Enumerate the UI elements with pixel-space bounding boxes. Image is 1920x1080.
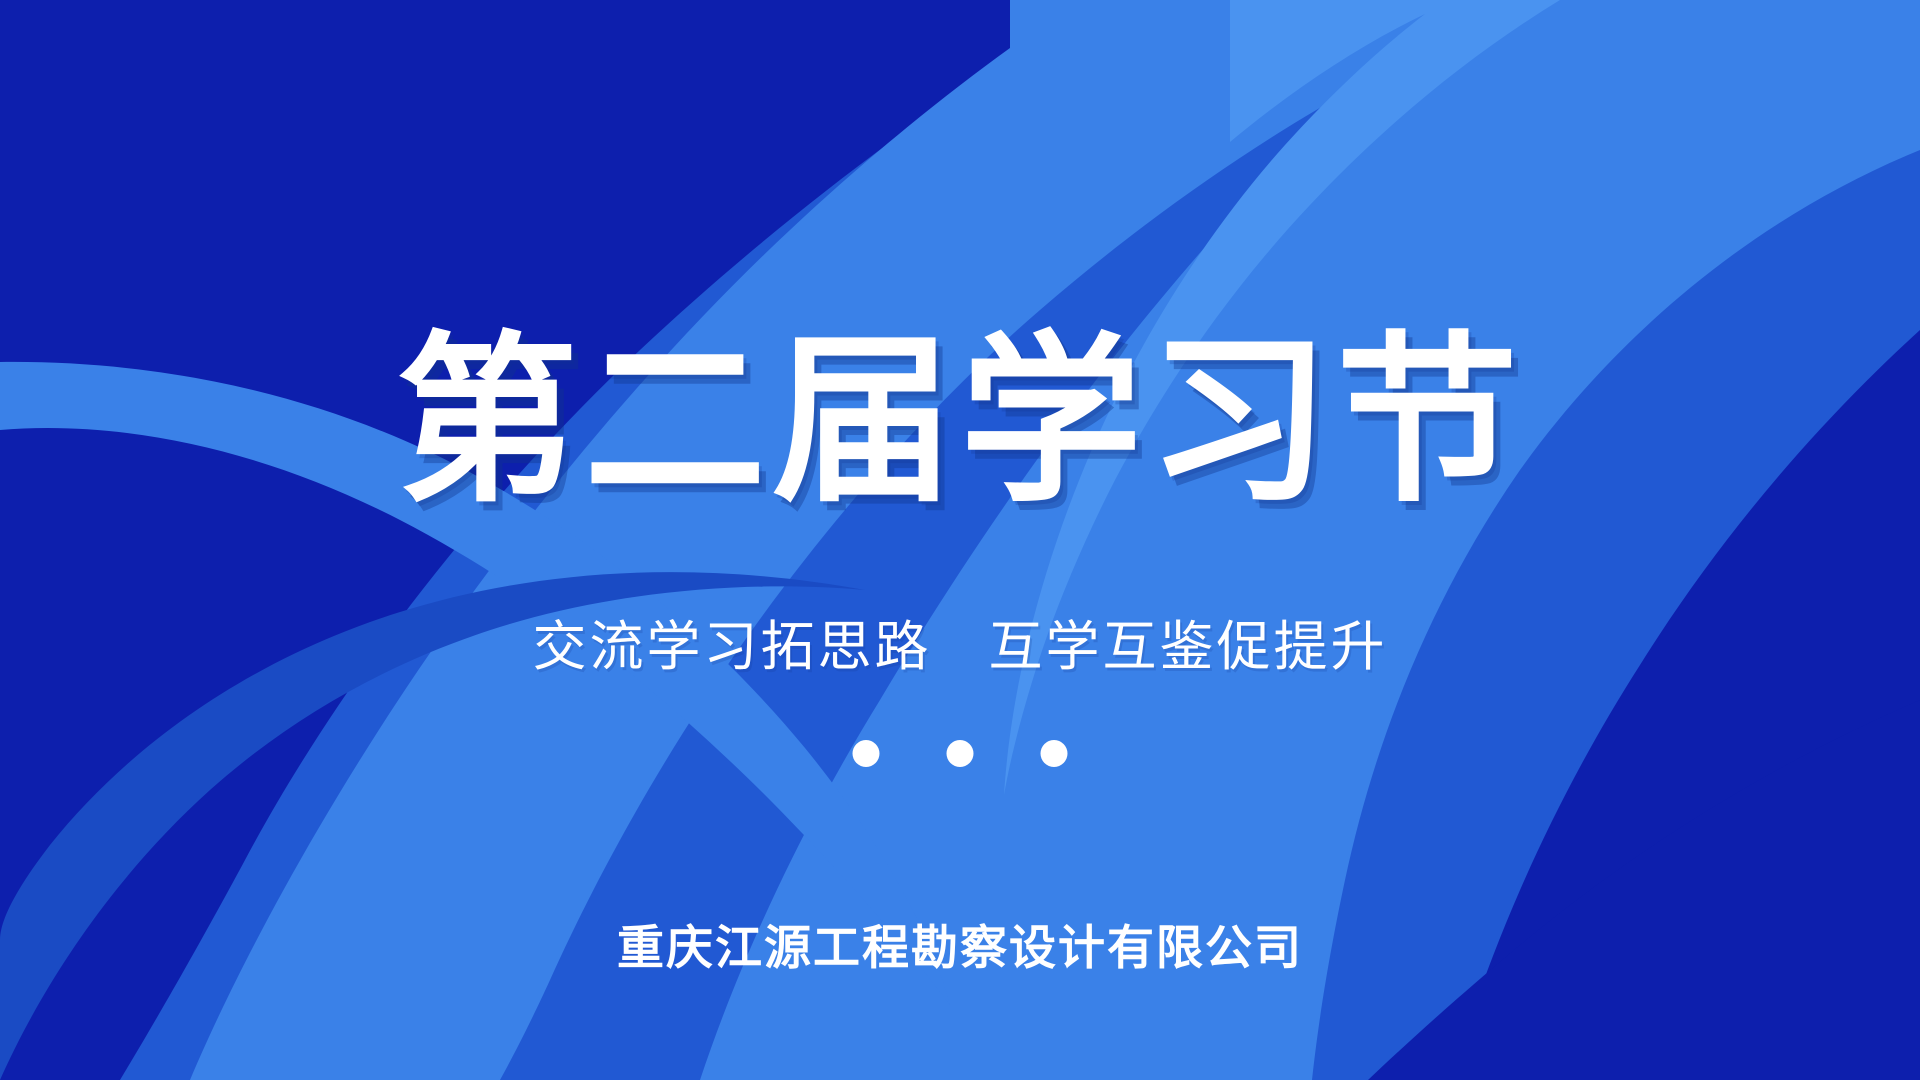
decorative-dot-divider xyxy=(853,740,1068,767)
page-title: 第二届学习节 xyxy=(396,330,1524,512)
event-poster: 第二届学习节 交流学习拓思路 互学互鉴促提升 重庆江源工程勘察设计有限公司 xyxy=(0,0,1920,1080)
background-artwork xyxy=(0,0,1920,1080)
divider-dot-1 xyxy=(853,740,880,767)
divider-dot-3 xyxy=(1041,740,1068,767)
divider-dot-2 xyxy=(947,740,974,767)
organization-name: 重庆江源工程勘察设计有限公司 xyxy=(617,925,1303,972)
subtitle-tagline: 交流学习拓思路 互学互鉴促提升 xyxy=(533,620,1388,674)
